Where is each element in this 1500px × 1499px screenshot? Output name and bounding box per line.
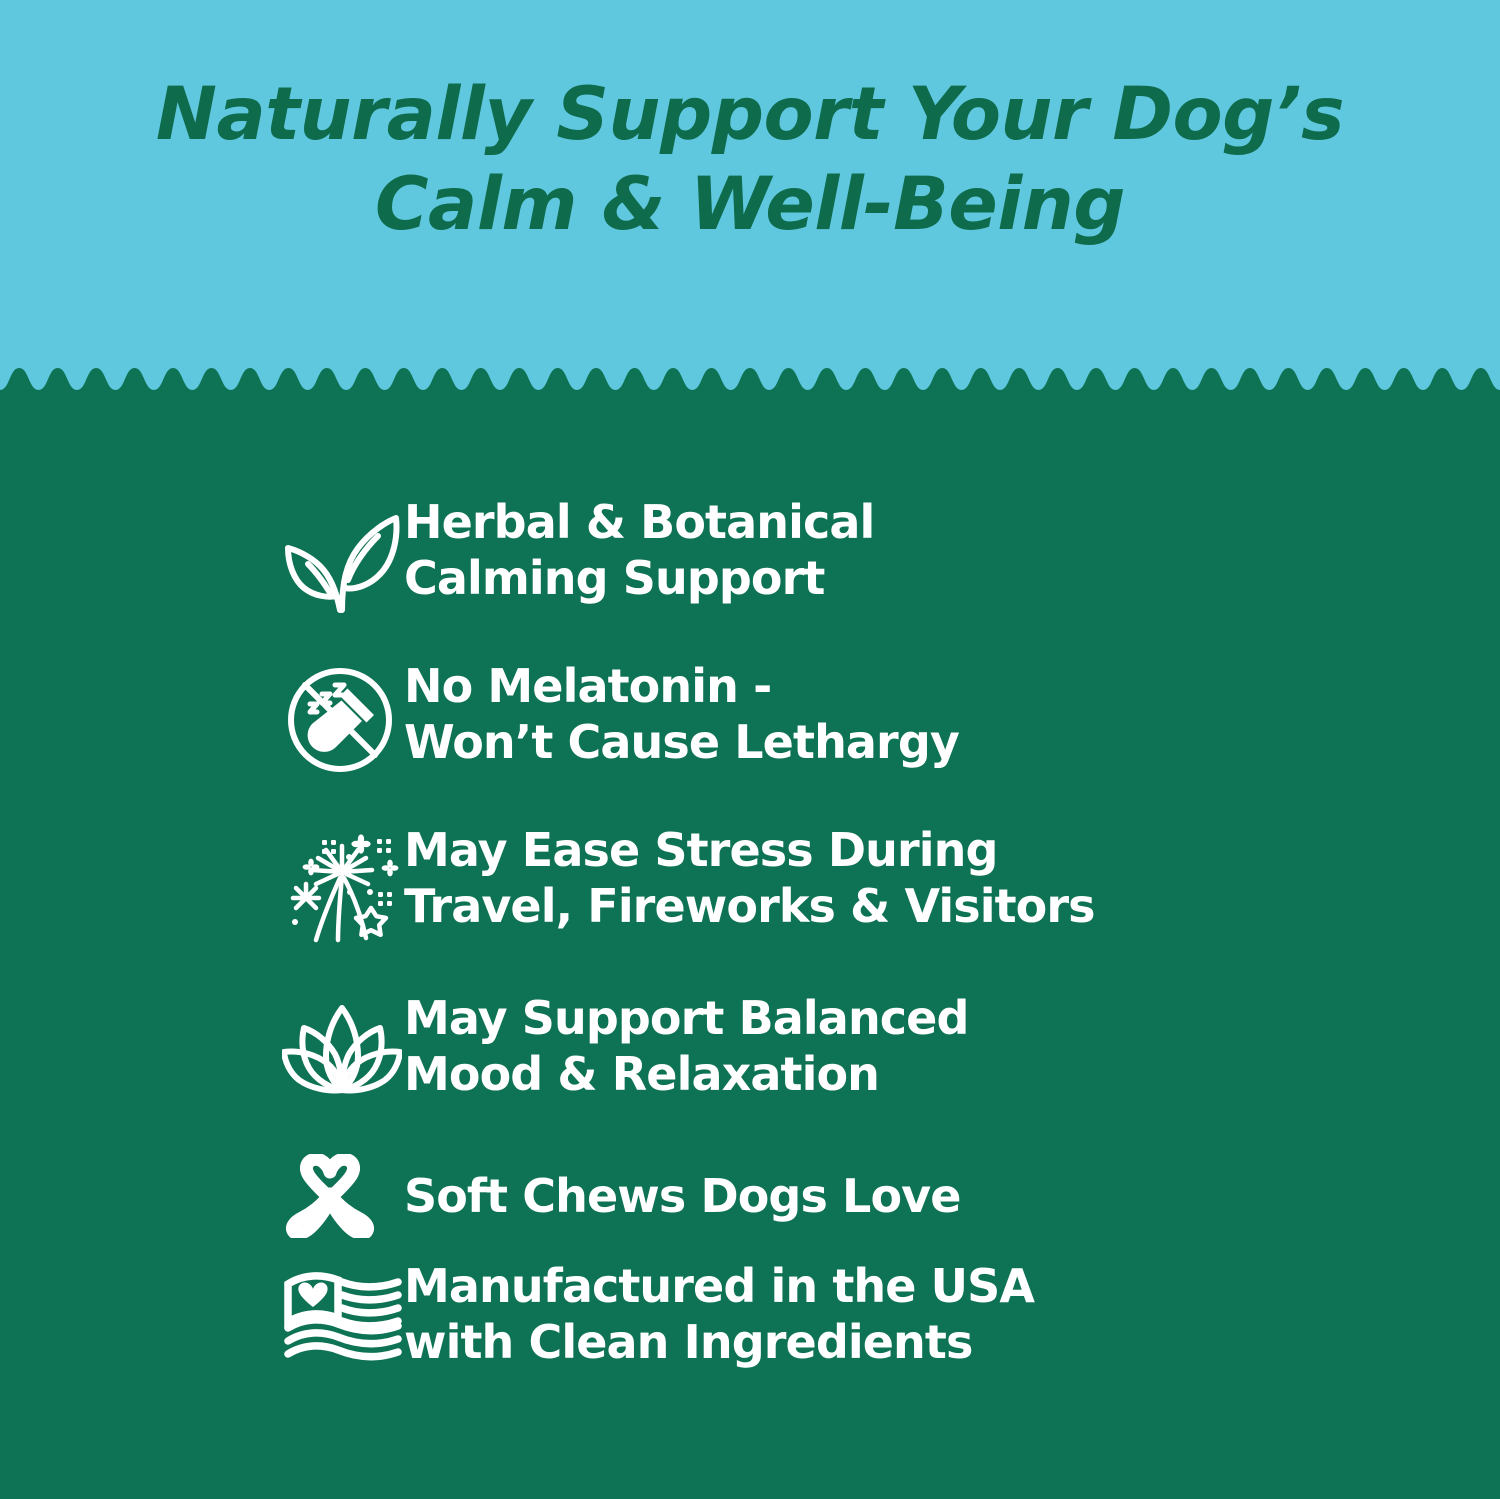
feature-line-2: Mood & Relaxation: [404, 1046, 1500, 1102]
heart-chew-icon: [282, 1154, 404, 1238]
feature-list: Herbal & Botanical Calming Support: [0, 470, 1500, 1406]
feature-text: May Support Balanced Mood & Relaxation: [404, 988, 1500, 1102]
product-benefits-infographic: Naturally Support Your Dog’s Calm & Well…: [0, 0, 1500, 1499]
wavy-divider: [0, 368, 1500, 428]
feature-line-1: Manufactured in the USA: [404, 1258, 1500, 1314]
feature-item-made-in-usa: Manufactured in the USA with Clean Ingre…: [0, 1256, 1500, 1406]
feature-line-1: No Melatonin -: [404, 658, 1500, 714]
feature-item-soft-chews: Soft Chews Dogs Love: [0, 1154, 1500, 1238]
feature-line-1: Soft Chews Dogs Love: [404, 1168, 1500, 1224]
feature-line-2: with Clean Ingredients: [404, 1314, 1500, 1370]
fireworks-icon: [282, 820, 404, 946]
feature-text: Herbal & Botanical Calming Support: [404, 492, 1500, 606]
feature-item-ease-stress: May Ease Stress During Travel, Fireworks…: [0, 820, 1500, 970]
feature-line-1: Herbal & Botanical: [404, 494, 1500, 550]
feature-line-2: Won’t Cause Lethargy: [404, 714, 1500, 770]
feature-text: Soft Chews Dogs Love: [404, 1168, 1500, 1224]
feature-text: May Ease Stress During Travel, Fireworks…: [404, 820, 1500, 934]
feature-text: Manufactured in the USA with Clean Ingre…: [404, 1256, 1500, 1370]
feature-line-1: May Support Balanced: [404, 990, 1500, 1046]
no-melatonin-vial-icon: [282, 656, 404, 778]
feature-item-herbal-botanical: Herbal & Botanical Calming Support: [0, 492, 1500, 642]
lotus-flower-icon: [282, 988, 404, 1100]
feature-item-balanced-mood: May Support Balanced Mood & Relaxation: [0, 988, 1500, 1138]
feature-line-1: May Ease Stress During: [404, 822, 1500, 878]
leaf-sprout-icon: [282, 492, 404, 618]
usa-flag-heart-icon: [282, 1256, 404, 1366]
feature-text: No Melatonin - Won’t Cause Lethargy: [404, 656, 1500, 770]
feature-item-no-melatonin: No Melatonin - Won’t Cause Lethargy: [0, 656, 1500, 806]
header-background: [0, 0, 1500, 392]
feature-line-2: Travel, Fireworks & Visitors: [404, 878, 1500, 934]
feature-line-2: Calming Support: [404, 550, 1500, 606]
